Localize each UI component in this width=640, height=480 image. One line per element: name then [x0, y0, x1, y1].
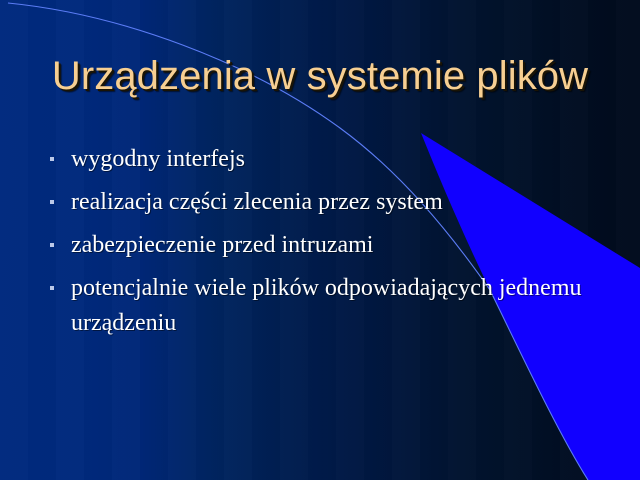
square-bullet-icon: [50, 228, 71, 247]
list-item-label: realizacja części zlecenia przez system: [71, 185, 595, 220]
slide-title: Urządzenia w systemie plików: [0, 53, 640, 99]
bullet-list: wygodny interfejs realizacja części zlec…: [50, 142, 595, 349]
list-item-label: zabezpieczenie przed intruzami: [71, 228, 595, 263]
list-item-label: wygodny interfejs: [71, 142, 595, 177]
square-bullet-icon: [50, 185, 71, 204]
list-item: potencjalnie wiele plików odpowiadającyc…: [50, 271, 595, 341]
list-item: wygodny interfejs: [50, 142, 595, 177]
list-item-label: potencjalnie wiele plików odpowiadającyc…: [71, 271, 595, 341]
presentation-slide: Urządzenia w systemie plików wygodny int…: [0, 0, 640, 480]
list-item: realizacja części zlecenia przez system: [50, 185, 595, 220]
list-item: zabezpieczenie przed intruzami: [50, 228, 595, 263]
square-bullet-icon: [50, 271, 71, 290]
square-bullet-icon: [50, 142, 71, 161]
